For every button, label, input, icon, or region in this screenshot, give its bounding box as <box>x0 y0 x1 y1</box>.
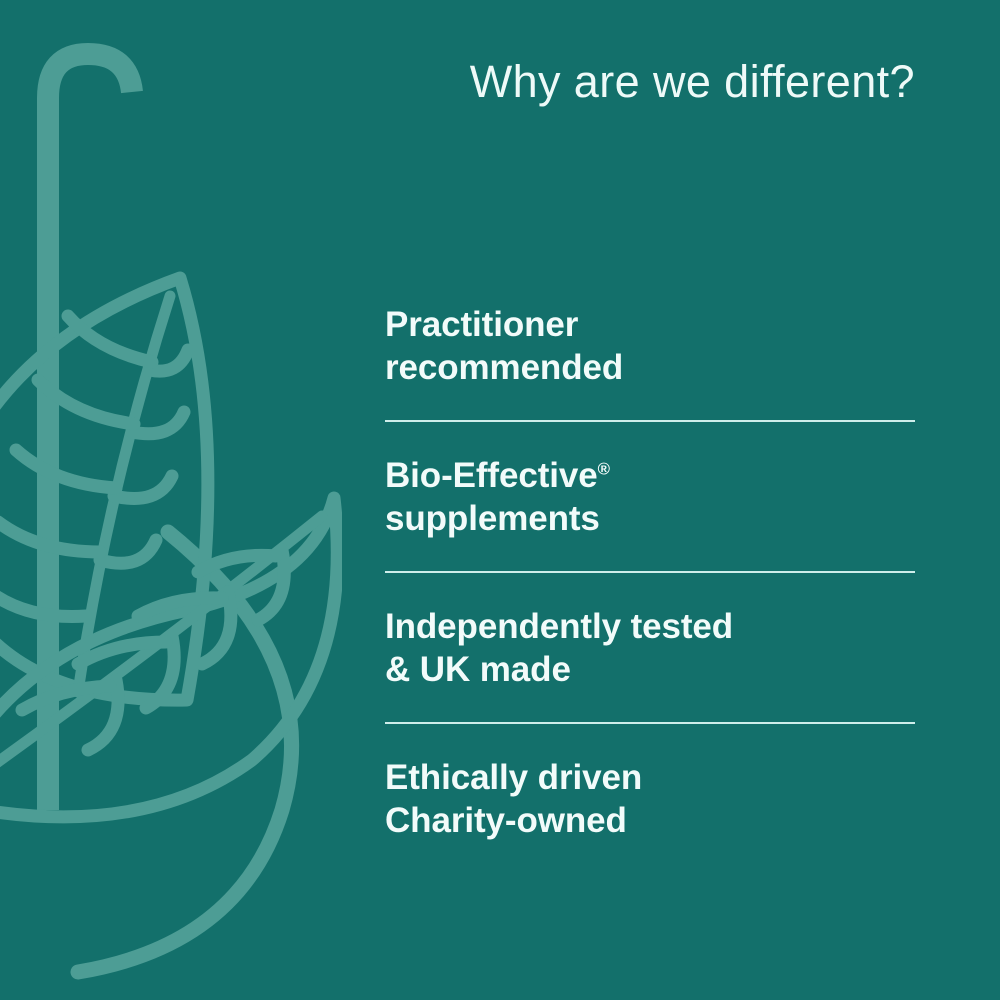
feature-divider <box>385 722 915 724</box>
leaf-illustration <box>0 20 342 980</box>
feature-list: Practitioner recommended Bio-Effective® … <box>385 303 915 842</box>
feature-label: Bio-Effective® supplements <box>385 454 915 540</box>
feature-item-ethically-driven: Ethically driven Charity-owned <box>385 756 915 842</box>
content-column: Why are we different? Practitioner recom… <box>385 0 915 1000</box>
feature-line-1: Ethically driven <box>385 758 642 797</box>
feature-label: Ethically driven Charity-owned <box>385 756 915 842</box>
feature-line-2: recommended <box>385 348 623 387</box>
stem-hook-icon <box>48 54 132 810</box>
promotional-banner: Why are we different? Practitioner recom… <box>0 0 1000 1000</box>
leaf-upper <box>0 278 208 700</box>
feature-line-1: Practitioner <box>385 305 578 344</box>
feature-line-1: Independently tested <box>385 607 733 646</box>
feature-label: Practitioner recommended <box>385 303 915 389</box>
feature-label: Independently tested & UK made <box>385 605 915 691</box>
feature-line-2: Charity-owned <box>385 801 627 840</box>
page-title: Why are we different? <box>385 57 915 107</box>
leaf-lower <box>0 498 337 817</box>
arc-shape <box>78 532 292 972</box>
feature-line-2: supplements <box>385 499 600 538</box>
registered-trademark-icon: ® <box>598 459 610 478</box>
feature-line-1: Bio-Effective <box>385 456 598 495</box>
feature-divider <box>385 420 915 422</box>
feature-item-practitioner: Practitioner recommended <box>385 303 915 422</box>
feature-line-2: & UK made <box>385 650 571 689</box>
feature-item-independently-tested: Independently tested & UK made <box>385 605 915 724</box>
feature-divider <box>385 571 915 573</box>
feature-item-bio-effective: Bio-Effective® supplements <box>385 454 915 573</box>
